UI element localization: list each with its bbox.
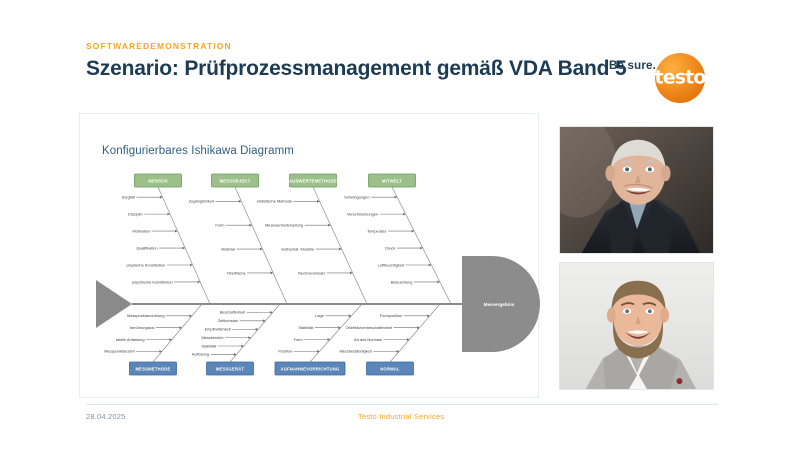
cause-label: Empfindlichkeit (205, 327, 232, 332)
cause-label: Oberfläche (227, 270, 246, 275)
cause-label: Rechnereinsatz (298, 270, 325, 275)
cause-label: Stabilität (201, 343, 217, 348)
slide-title: Szenario: Prüfprozessmanagement gemäß VD… (86, 57, 626, 81)
cause-label: berührungslos (130, 325, 155, 330)
cause-label: Druck (385, 245, 395, 250)
cause-label: mathemat. Modelle (281, 246, 314, 251)
footer-divider (86, 404, 718, 405)
cause-label: Messwertverknüpfung (265, 223, 303, 228)
slide: SOFTWAREDEMONSTRATION Szenario: Prüfproz… (0, 0, 803, 452)
footer-company: Testo Industrial Services (358, 412, 444, 421)
cause-label: Form (294, 337, 303, 342)
testo-logo: testo (655, 53, 705, 103)
branch-rib-top-1 (235, 187, 287, 304)
branch-label-messmethode: MESSMETHODE (135, 366, 170, 371)
branch-label-messgerät: MESSGERÄT (216, 366, 245, 371)
cause-label: Zeitkonstan (218, 318, 238, 323)
cause-label: physische Konstitution (126, 262, 165, 267)
cause-label: Verschmutzungen (347, 211, 378, 216)
cause-label: Schwingungen (344, 194, 370, 199)
ishikawa-diagram: MessergebnisMENSCHSorgfaltDisziplinMotiv… (80, 114, 540, 399)
cause-label: Material (221, 246, 235, 251)
cause-label: Messpunktanzahl (104, 349, 134, 354)
cause-label: Zugänglichkeit (189, 199, 215, 204)
cause-label: Beschaffenheit (220, 310, 247, 315)
cause-label: Form (215, 223, 224, 228)
cause-label: Art des Normals (354, 337, 382, 342)
ishikawa-panel: Konfigurierbares Ishikawa Diagramm Messe… (79, 113, 539, 398)
cause-label: Luftfeuchtigkeit (378, 262, 405, 267)
fish-tail (96, 280, 132, 328)
branch-label-mitwelt: MITWELT (382, 178, 402, 183)
cause-label: Stabilität (298, 325, 314, 330)
branch-label-normal: NORMAL (380, 366, 400, 371)
cause-label: Formposition (380, 313, 403, 318)
cause-label: statistische Methode (257, 199, 292, 204)
cause-label: Oberflächenbeschaffenheit (346, 325, 393, 330)
speaker-photo-2 (559, 262, 714, 390)
cause-label: psychische Konstitution (132, 279, 173, 284)
branch-label-messobjekt: MESSOBJEKT (220, 178, 251, 183)
cause-label: Disziplin (128, 211, 143, 216)
cause-label: Messpunktanordnung (127, 313, 164, 318)
slide-eyebrow: SOFTWAREDEMONSTRATION (86, 41, 232, 51)
cause-label: Motivation (132, 228, 150, 233)
cause-label: Lage (315, 313, 324, 318)
cause-label: Beleuchtung (391, 279, 413, 284)
cause-label: Qualifikation (136, 245, 157, 250)
testo-logo-text: testo (655, 68, 706, 87)
branch-rib-top-3 (392, 187, 451, 304)
cause-label: Auflösung (192, 352, 209, 357)
cause-label: Messbeständigkeit (339, 349, 372, 354)
cause-label: Position (278, 349, 292, 354)
portrait-illustration-1 (560, 127, 713, 253)
footer-date: 28.04.2025 (86, 412, 126, 421)
branch-label-auswertemethode: AUSWERTEMETHODE (289, 178, 337, 183)
effect-label: Messergebnis (484, 302, 515, 307)
branch-rib-top-2 (313, 187, 367, 304)
cause-label: taktile Antastung (116, 337, 145, 342)
speaker-photo-1 (559, 126, 714, 254)
brand-claim: Be sure. (609, 60, 656, 72)
branch-label-mensch: MENSCH (148, 178, 167, 183)
portrait-illustration-2 (560, 263, 713, 389)
branch-label-aufnahmevorrichtung: AUFNAHMEVORRICHTUNG (281, 366, 340, 371)
cause-label: Sorgfalt (122, 194, 136, 199)
cause-label: Messbereich (201, 335, 223, 340)
cause-label: Temperatur (367, 228, 387, 233)
branch-rib-top-0 (158, 187, 210, 304)
